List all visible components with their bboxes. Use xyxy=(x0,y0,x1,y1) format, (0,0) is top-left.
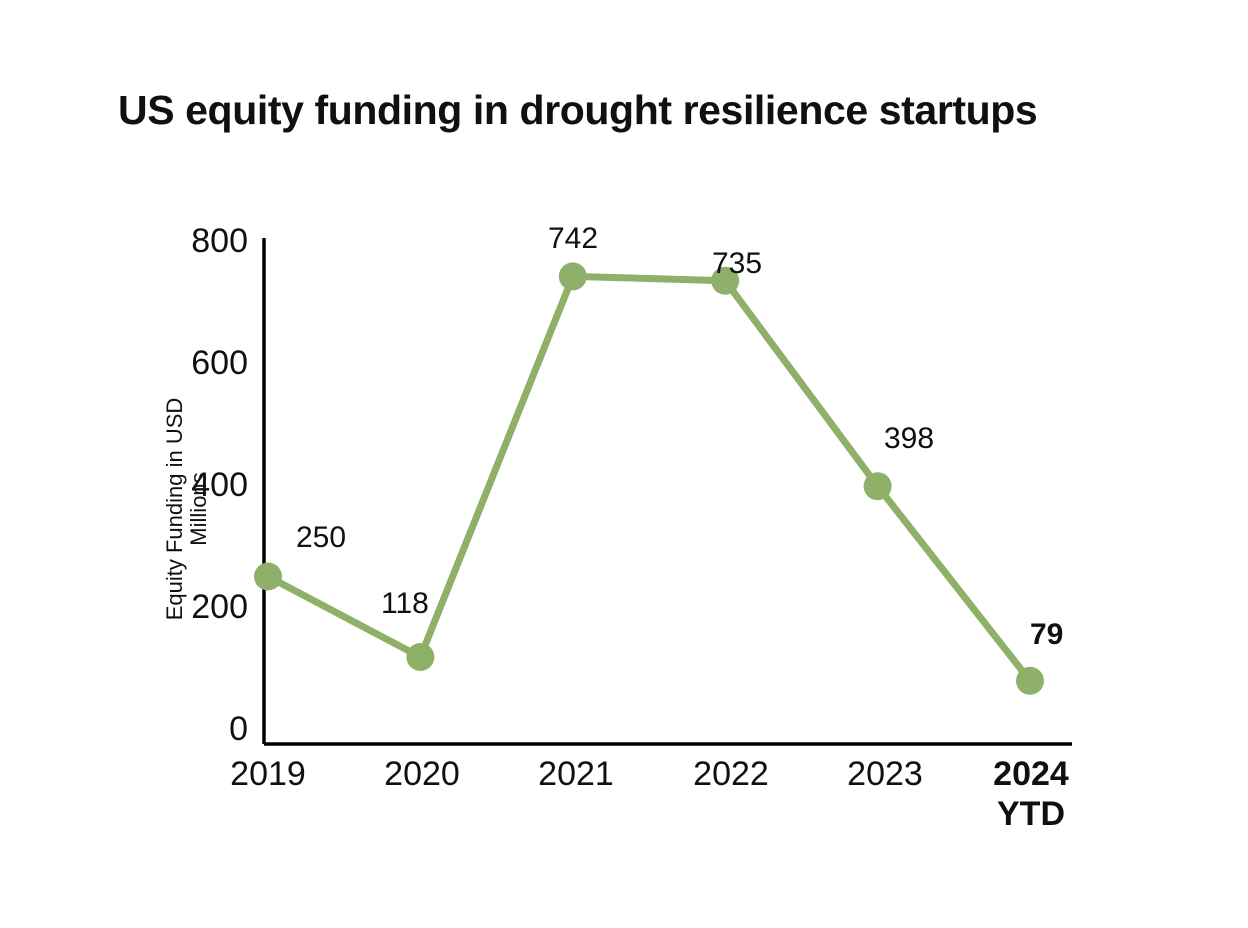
y-axis-title: Equity Funding in USD Millions xyxy=(163,359,211,659)
data-point-2020[interactable] xyxy=(406,643,434,671)
axis-lines xyxy=(264,238,1072,744)
data-label-2024-ytd: 79 xyxy=(1030,620,1063,650)
data-label-2019: 250 xyxy=(296,523,346,553)
y-tick-800: 800 xyxy=(158,224,248,258)
data-label-2023: 398 xyxy=(884,424,934,454)
x-tick-2019-label: 2019 xyxy=(230,755,306,793)
x-tick-2024-sublabel: YTD xyxy=(936,794,1126,834)
data-label-2021: 742 xyxy=(548,224,598,254)
y-axis-title-holder: Equity Funding in USD Millions xyxy=(134,0,160,928)
data-label-2022: 735 xyxy=(712,249,762,279)
data-point-2019[interactable] xyxy=(254,563,282,591)
x-tick-2022-label: 2022 xyxy=(693,755,769,793)
data-label-2020: 118 xyxy=(381,589,429,619)
x-tick-2020-label: 2020 xyxy=(384,755,460,793)
x-tick-2021-label: 2021 xyxy=(538,755,614,793)
data-point-2024-ytd[interactable] xyxy=(1016,667,1044,695)
plot-area: 800 600 400 200 0 Equity Funding in USD … xyxy=(0,0,1248,928)
x-tick-2023-label: 2023 xyxy=(847,755,923,793)
y-tick-0: 0 xyxy=(158,712,248,746)
series-line-2019-2024 xyxy=(268,276,1030,680)
x-tick-2024-ytd: 2024 YTD xyxy=(936,754,1126,834)
x-tick-2024-label: 2024 xyxy=(993,755,1069,793)
data-point-2023[interactable] xyxy=(864,472,892,500)
data-point-2021[interactable] xyxy=(559,262,587,290)
chart-figure: US equity funding in drought resilience … xyxy=(0,0,1248,928)
